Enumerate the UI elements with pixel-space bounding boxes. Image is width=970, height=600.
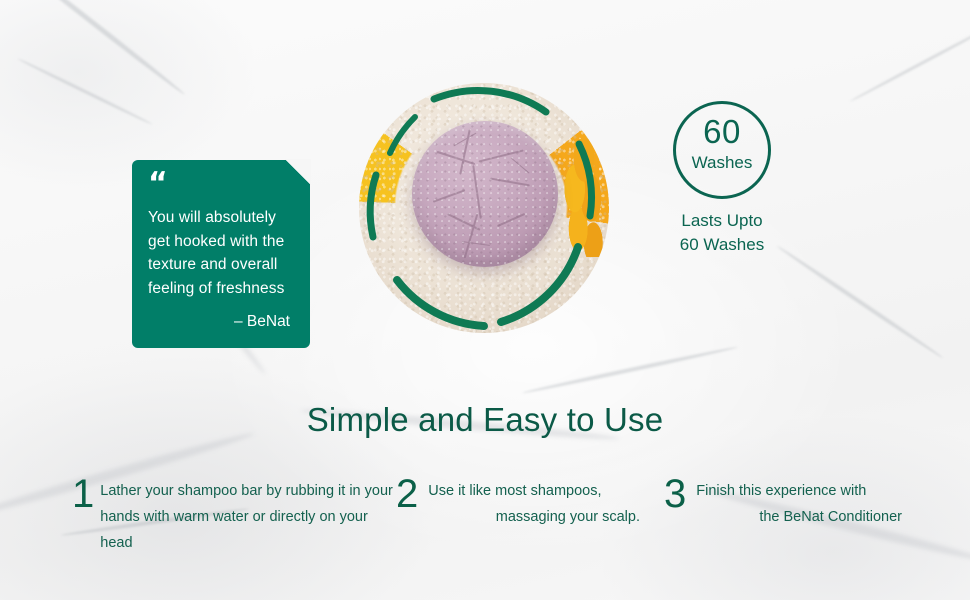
green-ring-overlay xyxy=(353,77,615,339)
customer-quote-card: “ You will absolutely get hooked with th… xyxy=(132,160,310,348)
step-2-line-1: Use it like most shampoos, xyxy=(428,478,640,504)
step-1-text: Lather your shampoo bar by rubbing it in… xyxy=(100,478,402,556)
marble-vein xyxy=(522,345,738,395)
marble-vein xyxy=(776,244,944,359)
step-3-text: Finish this experience with the BeNat Co… xyxy=(696,478,902,530)
marble-vein xyxy=(0,0,186,96)
quote-author: – BeNat xyxy=(148,311,294,333)
step-3-line-2: the BeNat Conditioner xyxy=(759,509,902,525)
badge-caption: Lasts Upto 60 Washes xyxy=(640,209,804,257)
step-3-line-1: Finish this experience with xyxy=(696,478,902,504)
section-heading: Simple and Easy to Use xyxy=(0,398,970,442)
product-photo xyxy=(359,83,609,333)
step-2-number: 2 xyxy=(396,474,418,514)
marble-vein xyxy=(849,20,970,102)
step-1-number: 1 xyxy=(72,474,94,514)
marble-vein xyxy=(17,57,153,125)
step-1: 1 Lather your shampoo bar by rubbing it … xyxy=(72,478,402,556)
step-2-line-2: massaging your scalp. xyxy=(496,509,640,525)
washes-badge: 60 Washes xyxy=(673,101,771,199)
badge-caption-line-1: Lasts Upto xyxy=(640,209,804,233)
step-2-text: Use it like most shampoos, massaging you… xyxy=(428,478,640,530)
badge-unit-label: Washes xyxy=(673,153,771,173)
infographic-canvas: “ You will absolutely get hooked with th… xyxy=(0,0,970,600)
step-2: 2 Use it like most shampoos, massaging y… xyxy=(396,478,640,530)
quote-text: You will absolutely get hooked with the … xyxy=(148,206,294,300)
quotation-mark-icon: “ xyxy=(148,174,294,198)
step-3-number: 3 xyxy=(664,474,686,514)
quote-card-notch xyxy=(285,159,311,185)
step-1-line-1: Lather your shampoo bar by xyxy=(100,483,281,499)
badge-number: 60 xyxy=(673,115,771,148)
step-3: 3 Finish this experience with the BeNat … xyxy=(664,478,902,530)
badge-caption-line-2: 60 Washes xyxy=(640,233,804,257)
